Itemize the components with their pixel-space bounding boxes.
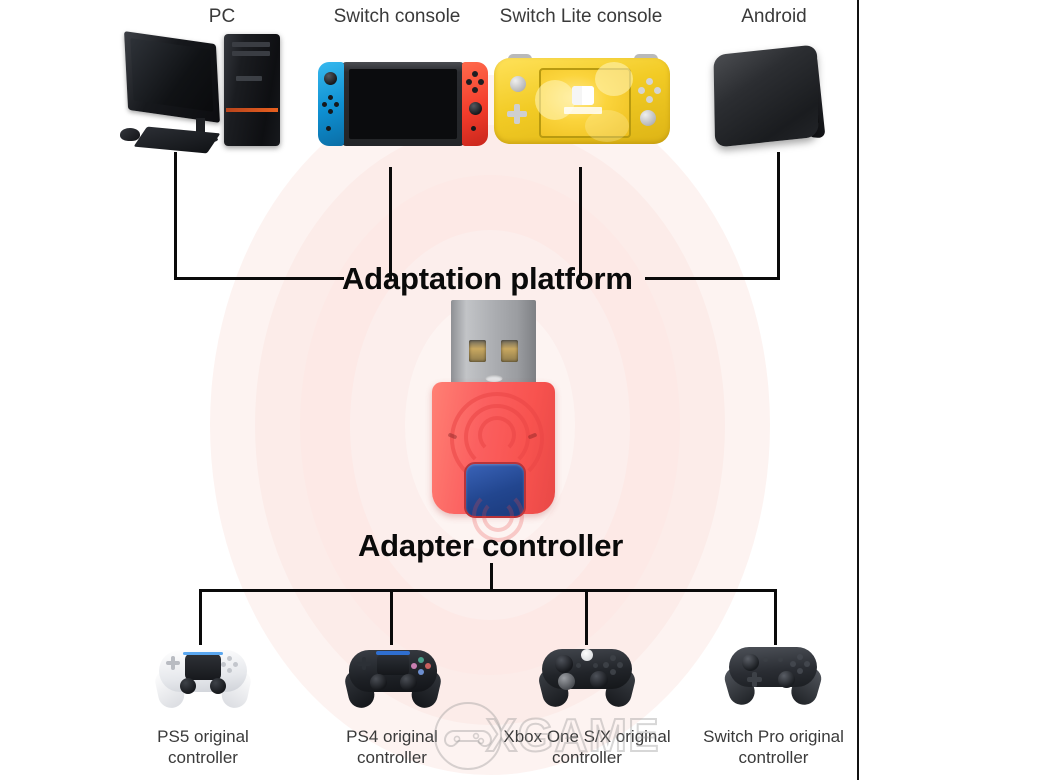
joycon-left-dpad-right [334, 102, 339, 107]
pro-button-y [790, 661, 796, 667]
pc-screen [130, 38, 213, 112]
controller-label-switch-pro: Switch Pro original controller [686, 726, 861, 768]
xbox-button-a [610, 669, 616, 675]
controller-label-line2: controller [739, 748, 809, 767]
ps4-touchpad [377, 655, 409, 675]
ps4-button-cross [418, 669, 424, 675]
ps5-face-buttons [233, 662, 238, 667]
joycon-left-dpad-left [322, 102, 327, 107]
connector-bottom-bar [199, 589, 777, 592]
android-box-top [713, 44, 818, 147]
nintendo-switch-logo [572, 86, 594, 105]
pc-tower-drive-bay [232, 42, 270, 47]
connector-pc-drop [174, 152, 177, 280]
switch-logo-right [584, 86, 594, 105]
pc-monitor [124, 31, 220, 123]
xbox-button-x [603, 662, 609, 668]
ps4-button-triangle [418, 657, 424, 663]
joycon-left [318, 62, 344, 146]
ps4-left-stick [370, 674, 387, 691]
joycon-left-minus [326, 126, 331, 131]
pro-shell [729, 647, 817, 687]
usb-contact-slot [469, 340, 486, 362]
android-tv-box-icon [712, 46, 837, 151]
switch-lite-right-stick [640, 110, 656, 126]
adaptation-platform-title: Adaptation platform [342, 261, 633, 297]
ps5-right-stick [210, 678, 226, 694]
xbox-one-icon [538, 645, 636, 709]
xbox-menu-button [593, 663, 598, 668]
usb-contact-slot [501, 340, 518, 362]
joycon-left-dpad-up [328, 95, 333, 100]
ps5-face-buttons [227, 668, 232, 673]
switch-screen [349, 69, 457, 139]
controller-label-line2: controller [357, 748, 427, 767]
connector-switch-pro-drop [774, 589, 777, 645]
xbox-button-b [617, 662, 623, 668]
pc-tower-accent-stripe [226, 108, 278, 112]
connector-top-bar-right [645, 277, 780, 280]
pc-tower [224, 34, 280, 146]
signal-wave-inner [478, 416, 516, 454]
joycon-right-button-x [472, 71, 478, 77]
joycon-right-stick [469, 102, 482, 115]
joycon-left-stick [324, 72, 337, 85]
usb-shell-dimple [485, 375, 502, 382]
connector-ps5-drop [199, 589, 202, 645]
controller-label-xbox: Xbox One S/X original controller [487, 726, 687, 768]
ps5-touchpad [185, 654, 221, 680]
xbox-right-stick [590, 671, 608, 689]
controller-label-line1: PS5 original [157, 727, 249, 746]
platform-label-pc: PC [162, 6, 282, 28]
pc-tower-logo [236, 76, 262, 81]
pro-home-button [778, 657, 783, 662]
switch-lite-dpad [507, 104, 527, 124]
joycon-right-button-a [478, 79, 484, 85]
switch-lite-icon [494, 58, 670, 150]
switch-logo-wordmark [564, 107, 602, 114]
connector-ps4-drop [390, 589, 393, 645]
pro-button-a [804, 661, 810, 667]
pc-keyboard [134, 127, 221, 154]
controller-label-ps4: PS4 original controller [312, 726, 472, 768]
ps5-face-buttons [227, 656, 232, 661]
joycon-right [462, 62, 488, 146]
switch-lite-button-x [646, 78, 653, 85]
platform-label-switch-console: Switch console [307, 6, 487, 28]
xbox-dpad [558, 673, 575, 690]
ps4-dpad-horizontal [357, 662, 371, 666]
pro-left-stick [742, 654, 759, 671]
controller-label-line2: controller [168, 748, 238, 767]
ps5-left-stick [180, 678, 196, 694]
desktop-computer-icon [118, 30, 293, 155]
ps5-face-buttons [221, 662, 226, 667]
switch-lite-button-b [646, 96, 653, 103]
screen-blob [535, 80, 575, 120]
controller-label-line1: PS4 original [346, 727, 438, 746]
xbox-left-stick [555, 655, 573, 673]
switch-lite-left-stick [510, 76, 526, 92]
pro-dpad-horizontal [747, 677, 762, 682]
connector-top-bar-left [174, 277, 344, 280]
screen-blob [595, 62, 633, 96]
connector-xbox-drop [585, 589, 588, 645]
ps4-right-stick [400, 674, 417, 691]
adapter-controller-title: Adapter controller [358, 528, 623, 564]
switch-logo-left [572, 86, 582, 105]
xbox-view-button [576, 663, 581, 668]
adapter-body [432, 382, 555, 514]
platform-label-switch-lite-console: Switch Lite console [476, 6, 686, 28]
ps5-dpad-horizontal [166, 661, 180, 665]
pro-button-x [797, 654, 803, 660]
controller-label-ps5: PS5 original controller [123, 726, 283, 768]
ps4-button-circle [425, 663, 431, 669]
joycon-right-button-b [472, 87, 478, 93]
ps4-dualshock-icon [345, 648, 441, 710]
panel-right-border [857, 0, 859, 780]
switch-pro-icon [726, 645, 820, 707]
switch-lite-button-y [638, 87, 645, 94]
ps4-button-square [411, 663, 417, 669]
usb-a-connector [451, 300, 536, 388]
xbox-button-y [610, 655, 616, 661]
joycon-left-dpad-down [328, 109, 333, 114]
controller-label-line1: Xbox One S/X original [503, 727, 670, 746]
ps5-light-bar [183, 652, 223, 655]
switch-lite-button-a [654, 87, 661, 94]
pro-capture-button [763, 657, 768, 662]
ps5-dualsense-icon [155, 648, 251, 710]
controller-label-line1: Switch Pro original [703, 727, 844, 746]
screen-blob [585, 110, 629, 142]
pro-button-b [797, 668, 803, 674]
pro-right-stick [778, 671, 795, 688]
pc-tower-drive-bay [232, 51, 270, 56]
usb-bluetooth-adapter [432, 300, 555, 515]
nintendo-switch-icon [318, 62, 488, 148]
connector-android-drop [777, 152, 780, 280]
platform-label-android: Android [709, 6, 839, 28]
joycon-right-home [471, 126, 476, 131]
product-compatibility-diagram: PC Switch console Switch Lite console An… [0, 0, 1051, 780]
joycon-right-button-y [466, 79, 472, 85]
pc-mouse [120, 128, 140, 141]
connector-adapter-stem [490, 563, 493, 591]
xbox-guide-button [581, 649, 593, 661]
controller-label-line2: controller [552, 748, 622, 767]
ps4-light-bar [376, 651, 410, 655]
